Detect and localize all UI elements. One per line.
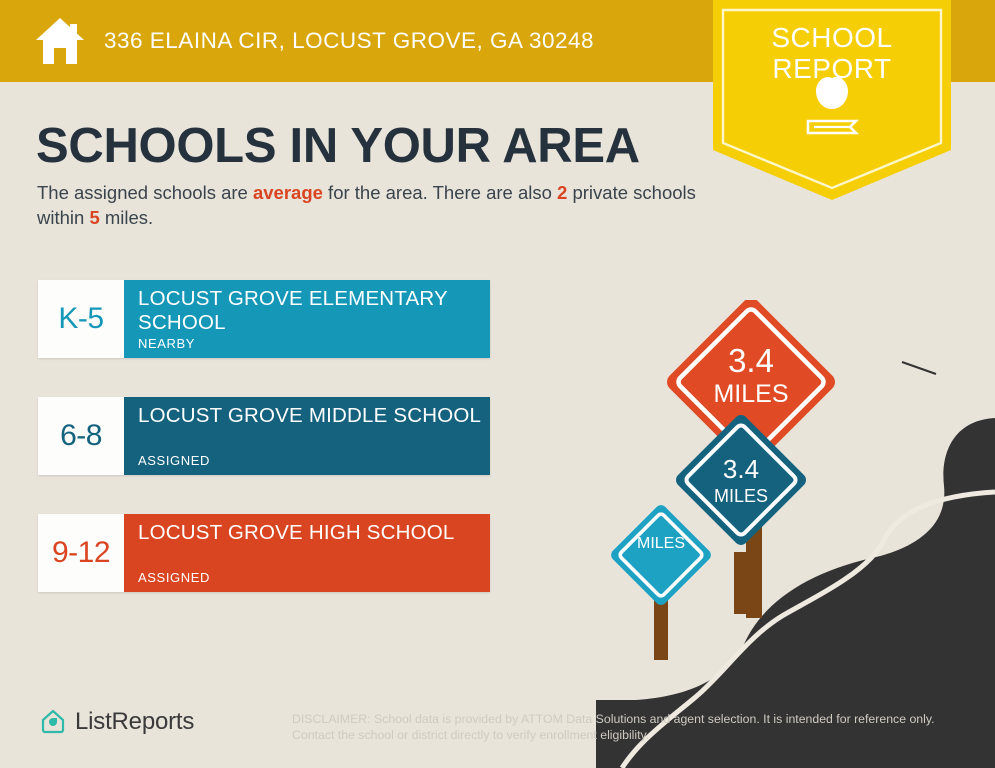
grade-range: 6-8 xyxy=(60,419,102,453)
road-sign-medium: 3.4 MILES xyxy=(673,412,809,614)
school-info: LOCUST GROVE MIDDLE SCHOOL ASSIGNED xyxy=(124,397,490,475)
grade-range-box: K-5 xyxy=(38,280,124,358)
school-info: LOCUST GROVE ELEMENTARY SCHOOL NEARBY xyxy=(124,280,490,358)
school-status-badge: ASSIGNED xyxy=(138,453,210,468)
subtitle-highlight-count: 2 xyxy=(557,182,567,203)
school-report-badge: SCHOOL REPORT xyxy=(713,0,951,200)
listreports-logo-text: ListReports xyxy=(75,708,194,736)
school-row-elementary[interactable]: K-5 LOCUST GROVE ELEMENTARY SCHOOL NEARB… xyxy=(38,280,490,358)
sign-unit: MILES xyxy=(713,380,788,408)
subtitle-text-2: for the area. There are also xyxy=(323,182,557,203)
sign-unit: MILES xyxy=(637,535,685,552)
school-name: LOCUST GROVE ELEMENTARY SCHOOL xyxy=(138,287,490,335)
sign-post xyxy=(654,600,668,660)
sign-distance: 3.4 xyxy=(723,454,759,484)
page-title: SCHOOLS IN YOUR AREA xyxy=(36,118,640,174)
grade-range: K-5 xyxy=(58,302,103,336)
listreports-house-icon xyxy=(40,709,66,735)
disclaimer-text: DISCLAIMER: School data is provided by A… xyxy=(292,711,948,743)
subtitle-text-1: The assigned schools are xyxy=(37,182,253,203)
road-signs-illustration: 3.4 MILES 3.4 MILES MILES xyxy=(596,300,995,768)
schools-list: K-5 LOCUST GROVE ELEMENTARY SCHOOL NEARB… xyxy=(38,280,490,631)
sign-distance: 3.4 xyxy=(728,342,774,379)
listreports-logo[interactable]: ListReports xyxy=(40,708,194,736)
school-status-badge: NEARBY xyxy=(138,336,195,351)
page-subtitle: The assigned schools are average for the… xyxy=(37,180,697,230)
sign-unit: MILES xyxy=(714,486,768,506)
school-row-high[interactable]: 9-12 LOCUST GROVE HIGH SCHOOL ASSIGNED xyxy=(38,514,490,592)
infographic-canvas: 336 ELAINA CIR, LOCUST GROVE, GA 30248 S… xyxy=(0,0,995,768)
grade-range-box: 6-8 xyxy=(38,397,124,475)
sign-post xyxy=(734,552,749,614)
road-sign-small: MILES xyxy=(609,503,714,660)
school-info: LOCUST GROVE HIGH SCHOOL ASSIGNED xyxy=(124,514,490,592)
grade-range-box: 9-12 xyxy=(38,514,124,592)
subtitle-text-4: miles. xyxy=(100,207,153,228)
school-name: LOCUST GROVE MIDDLE SCHOOL xyxy=(138,404,490,428)
property-address: 336 ELAINA CIR, LOCUST GROVE, GA 30248 xyxy=(104,28,594,54)
subtitle-highlight-rating: average xyxy=(253,182,323,203)
school-name: LOCUST GROVE HIGH SCHOOL xyxy=(138,521,490,545)
subtitle-highlight-radius: 5 xyxy=(89,207,99,228)
home-icon xyxy=(34,16,86,66)
grade-range: 9-12 xyxy=(52,536,110,570)
school-status-badge: ASSIGNED xyxy=(138,570,210,585)
school-row-middle[interactable]: 6-8 LOCUST GROVE MIDDLE SCHOOL ASSIGNED xyxy=(38,397,490,475)
